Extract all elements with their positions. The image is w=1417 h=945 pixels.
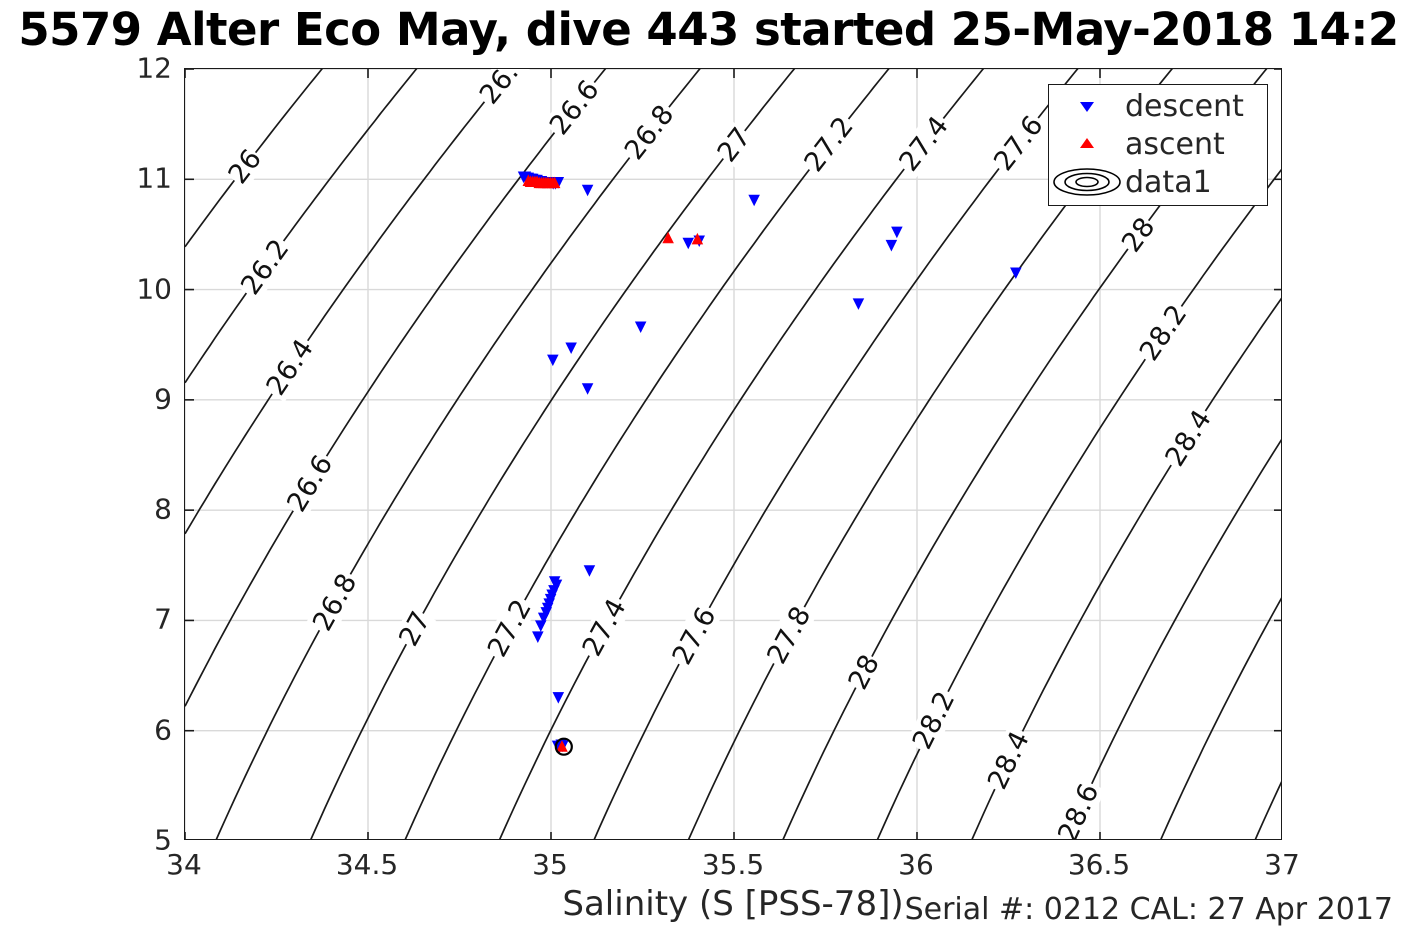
x-tick-label: 36.5 [1068, 848, 1130, 881]
legend-label-data1: data1 [1125, 165, 1212, 200]
contour-label: 28.4 [982, 727, 1036, 795]
contour-label-group: 27.4 [576, 592, 634, 663]
descent-marker [749, 195, 759, 205]
triangle-up-marker-icon [1049, 133, 1125, 155]
serial-cal-text: Serial #: 0212 CAL: 27 Apr 2017 [905, 892, 1393, 927]
contour-label-group: 27.8 [760, 600, 818, 671]
legend-item-descent[interactable]: descent [1049, 87, 1267, 125]
y-tick-label: 7 [112, 603, 172, 636]
descent-marker [582, 384, 592, 394]
x-tick-label: 35.5 [702, 848, 764, 881]
serial-cal-footer: Serial #: 0212 CAL: 27 Apr 2017 [905, 892, 1393, 927]
y-tick-label: 8 [112, 493, 172, 526]
x-tick-label: 36 [898, 848, 934, 881]
contour-label-group: 26 [222, 143, 268, 190]
contour-label-group: 28 [1116, 212, 1162, 259]
contour-label-group: 26.8 [618, 98, 682, 168]
chart-title: 5579 Alter Eco May, dive 443 started 25-… [0, 0, 1417, 58]
contour-line [260, 69, 904, 839]
contour-label-group: 28.4 [981, 725, 1037, 796]
triangle-down-marker-icon [1049, 95, 1125, 117]
contour-line [185, 69, 809, 839]
contour-label-group: 27 [711, 122, 757, 169]
y-tick-label: 5 [112, 824, 172, 857]
legend-label-descent: descent [1125, 89, 1244, 124]
descent-marker [536, 621, 546, 631]
descent-marker [635, 322, 645, 332]
descent-marker [584, 566, 594, 576]
descent-marker [533, 632, 543, 642]
contour-label-group: 26.8 [306, 567, 364, 638]
chart-title-text: 5579 Alter Eco May, dive 443 started 25-… [18, 3, 1398, 56]
contour-label: 27 [393, 607, 437, 652]
y-tick-label: 11 [112, 162, 172, 195]
contour-label-group: 28.2 [906, 685, 962, 756]
contour-label-group: 28.6 [1052, 777, 1107, 839]
contour-label-group: 27.2 [797, 110, 861, 180]
descent-marker [683, 238, 693, 248]
y-tick-label: 9 [112, 382, 172, 415]
x-tick-label: 37 [1264, 848, 1300, 881]
contour-label-group: 28 [842, 650, 886, 695]
legend-item-data1[interactable]: data1 [1049, 163, 1267, 201]
contour-line [1108, 596, 1281, 840]
contour-label-group: 27.4 [892, 109, 956, 179]
descent-marker [853, 299, 863, 309]
legend-label-ascent: ascent [1125, 127, 1225, 162]
contour-label-group: 26.2 [234, 232, 297, 302]
y-tick-label: 6 [112, 713, 172, 746]
contour-label: 26 [223, 144, 268, 190]
contour-label-group: 26.6 [543, 73, 607, 142]
contour-label-group: 27.2 [481, 593, 539, 664]
contour-label-group: 28.2 [1133, 298, 1195, 368]
descent-marker [553, 692, 563, 702]
contour-label-group: 26.6 [280, 448, 340, 519]
x-tick-label: 34.5 [336, 848, 398, 881]
contour-label-group: 26.4 [260, 332, 321, 402]
descent-marker [892, 227, 902, 237]
x-axis-label-text: Salinity (S [PSS-78]) [562, 884, 903, 924]
contour-label: 28 [843, 650, 886, 695]
descent-marker [1011, 268, 1021, 278]
legend-item-ascent[interactable]: ascent [1049, 125, 1267, 163]
contour-label-group: 27.6 [666, 601, 724, 672]
data-points [518, 172, 1021, 755]
contour-label: 28.2 [907, 687, 962, 755]
contour-rings-icon [1049, 165, 1125, 199]
legend[interactable]: descent ascent data1 [1048, 84, 1268, 206]
contour-label: 28 [1116, 212, 1161, 258]
contour-line [1203, 779, 1281, 839]
y-tick-label: 12 [112, 52, 172, 85]
contour-label-group: 27.6 [987, 109, 1051, 179]
contour-line [824, 168, 1281, 839]
contour-line [185, 69, 619, 534]
x-tick-label: 35 [532, 848, 568, 881]
descent-marker [886, 240, 896, 250]
contour-label-group: 28.4 [1158, 403, 1218, 474]
descent-marker [582, 185, 592, 195]
y-tick-label: 10 [112, 272, 172, 305]
contour-line [1014, 437, 1282, 839]
contour-label: 27 [712, 122, 758, 168]
contour-line [355, 69, 999, 839]
contour-label-group: 28.8 [1122, 833, 1176, 839]
contour-label-group: 27 [393, 606, 437, 652]
descent-marker [566, 343, 576, 353]
descent-marker [548, 355, 558, 365]
